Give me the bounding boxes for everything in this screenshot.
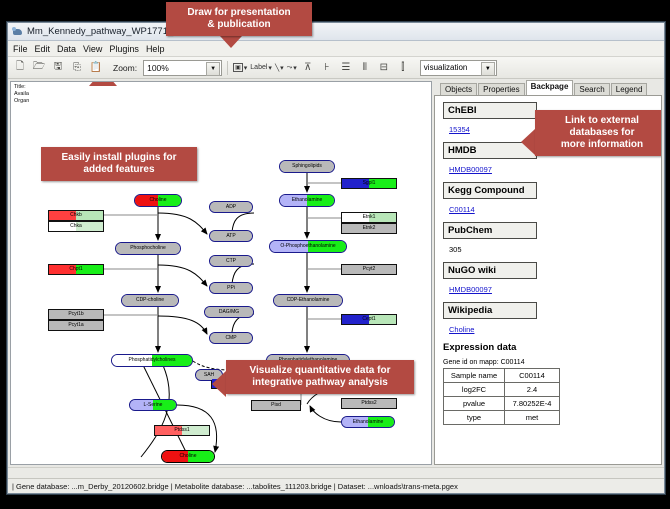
expression-value: 7.80252E-4 <box>505 397 560 411</box>
menu-bar: File Edit Data View Plugins Help <box>8 41 664 57</box>
gene-node[interactable]: Pisd <box>251 400 301 411</box>
copy-icon[interactable]: ⎘ <box>69 60 85 76</box>
backpage-panel: ChEBI15354HMDBHMDB00097Kegg CompoundC001… <box>434 96 662 465</box>
chevron-down-icon[interactable]: ▼ <box>481 62 495 76</box>
zoom-value: 100% <box>147 63 169 73</box>
node-label: ATP <box>226 234 235 239</box>
menu-item-view[interactable]: View <box>83 44 102 54</box>
node-label: Ptdss1 <box>174 428 189 433</box>
metabolite-node[interactable]: PPi <box>209 282 253 294</box>
callout-links-line3: more information <box>543 139 661 151</box>
visualization-value: visualization <box>424 63 468 72</box>
node-label: Pcyt1a <box>68 323 83 328</box>
toolbar-separator <box>227 61 228 75</box>
callout-plugins-arrow <box>89 81 117 86</box>
pathvisio-window: Mm_Kennedy_pathway_WP1771_45176.gpml Fil… <box>7 22 665 494</box>
gene-node[interactable]: Pcyt2 <box>341 264 397 275</box>
callout-plugins-line1: Easily install plugins for <box>49 152 189 164</box>
node-label: Ethanolamine <box>292 198 323 203</box>
align-left-icon[interactable]: ⊦ <box>319 60 335 76</box>
expression-data-heading: Expression data <box>443 342 653 353</box>
node-label: Choline <box>180 454 197 459</box>
stack-icon[interactable]: ⫿ <box>395 60 411 76</box>
node-label: DAG/MG <box>219 310 239 315</box>
database-section-title: PubChem <box>443 222 537 239</box>
gene-node[interactable]: Cept1 <box>341 314 397 325</box>
align-top-icon[interactable]: ⊼ <box>300 60 316 76</box>
menu-item-help[interactable]: Help <box>146 44 165 54</box>
metabolite-node[interactable]: Choline <box>161 450 215 463</box>
side-tabs: Objects Properties Backpage Search Legen… <box>434 81 662 96</box>
status-bar: | Gene database: ...m_Derby_20120602.bri… <box>8 478 664 493</box>
database-section-title: NuGO wiki <box>443 262 537 279</box>
zoom-combobox[interactable]: 100% ▼ <box>143 60 222 76</box>
callout-links-arrow <box>521 129 535 155</box>
tab-backpage[interactable]: Backpage <box>526 80 574 95</box>
metabolite-node[interactable]: Ethanolamine <box>279 194 335 207</box>
main-toolbar: 🗋 🗁 🖫 ⎘ 📋 Zoom: 100% ▼ ▣▾ Label▾ ╲▾ ⤳▾ ⊼… <box>8 57 664 79</box>
database-section-title: Wikipedia <box>443 302 537 319</box>
menu-item-data[interactable]: Data <box>57 44 76 54</box>
node-label: Sphingolipids <box>292 164 322 169</box>
gene-node[interactable]: Sgpl1 <box>341 178 397 189</box>
gene-node[interactable]: Etnk2 <box>341 223 397 234</box>
tab-properties[interactable]: Properties <box>478 83 524 95</box>
callout-draw-line2: & publication <box>174 19 304 31</box>
node-label: Ptdss2 <box>361 401 376 406</box>
metabolite-node[interactable]: CDP-Ethanolamine <box>273 294 343 307</box>
database-section-title: Kegg Compound <box>443 182 537 199</box>
node-label: L-Serine <box>144 403 163 408</box>
callout-draw: Draw for presentation & publication <box>166 2 312 36</box>
metabolite-node[interactable]: O-Phosphoethanolamine <box>269 240 347 253</box>
gene-node[interactable]: Chpt1 <box>48 264 104 275</box>
selection-handle[interactable] <box>187 462 192 463</box>
label-icon[interactable]: Label▾ <box>250 64 272 72</box>
callout-visualize-line2: integrative pathway analysis <box>234 377 406 389</box>
callout-links: Link to external databases for more info… <box>535 110 662 156</box>
expression-value: 2.4 <box>505 383 560 397</box>
paste-icon[interactable]: 📋 <box>88 60 104 76</box>
open-folder-icon[interactable]: 🗁 <box>31 60 47 76</box>
database-link[interactable]: HMDB00097 <box>449 165 492 174</box>
expression-key: log2FC <box>444 383 505 397</box>
side-panel-wrap: Objects Properties Backpage Search Legen… <box>434 81 662 465</box>
gene-node[interactable]: Pcyt1b <box>48 309 104 320</box>
metabolite-node[interactable]: Choline <box>134 194 182 207</box>
node-label: Chkb <box>70 213 82 218</box>
metabolite-node[interactable]: CMP <box>209 332 253 344</box>
node-label: CDP-choline <box>136 298 164 303</box>
horizontal-scrollbar[interactable] <box>8 467 664 478</box>
node-label: Choline <box>150 198 167 203</box>
database-section: NuGO wikiHMDB00097 <box>443 262 653 297</box>
node-label: PPi <box>227 286 235 291</box>
status-bar-text: | Gene database: ...m_Derby_20120602.bri… <box>12 482 458 491</box>
node-label: Chpt1 <box>69 267 82 272</box>
callout-visualize-line1: Visualize quantitative data for <box>234 365 406 377</box>
callout-links-line1: Link to external <box>543 115 661 127</box>
app-icon <box>12 26 23 37</box>
expression-value: met <box>505 411 560 425</box>
menu-item-edit[interactable]: Edit <box>35 44 51 54</box>
database-value: 305 <box>449 245 462 254</box>
callout-links-line2: databases for <box>543 127 661 139</box>
callout-draw-line1: Draw for presentation <box>174 7 304 19</box>
zoom-label: Zoom: <box>113 63 137 73</box>
database-link[interactable]: 15354 <box>449 125 470 134</box>
node-label: ADP <box>226 205 236 210</box>
table-row: log2FC2.4 <box>444 383 560 397</box>
line-icon[interactable]: ╲▾ <box>275 64 284 72</box>
database-link[interactable]: C00114 <box>449 205 475 214</box>
window-titlebar: Mm_Kennedy_pathway_WP1771_45176.gpml <box>8 23 664 41</box>
metabolite-node[interactable]: DAG/MG <box>204 306 254 318</box>
database-section: Kegg CompoundC00114 <box>443 182 653 217</box>
node-label: Ethanolamine <box>353 420 384 425</box>
database-section: PubChem305 <box>443 222 653 257</box>
distribute-vertical-icon[interactable]: ☰ <box>338 60 354 76</box>
same-width-icon[interactable]: ⊟ <box>376 60 392 76</box>
node-label: Pisd <box>271 403 281 408</box>
gene-node[interactable]: Chkb <box>48 210 104 221</box>
metabolite-node[interactable]: Ethanolamine <box>341 416 395 428</box>
node-label: Etnk2 <box>363 226 376 231</box>
callout-draw-arrow <box>220 36 242 48</box>
main-area: Title: Availa Organ <box>8 79 664 467</box>
metabolite-node[interactable]: CDP-choline <box>121 294 179 307</box>
database-section-title: ChEBI <box>443 102 537 119</box>
tab-legend[interactable]: Legend <box>611 83 648 95</box>
metabolite-node[interactable]: Sphingolipids <box>279 160 335 173</box>
interaction-icon[interactable]: ⤳▾ <box>287 64 297 72</box>
callout-visualize-arrow <box>212 371 226 397</box>
node-label: CTP <box>226 259 236 264</box>
save-icon[interactable]: 🖫 <box>50 60 66 76</box>
metabolite-node[interactable]: L-Serine <box>129 399 177 411</box>
callout-visualize: Visualize quantitative data for integrat… <box>226 360 414 394</box>
expression-key: type <box>444 411 505 425</box>
node-label: Phosphatidylcholines <box>129 358 176 363</box>
menu-item-file[interactable]: File <box>13 44 28 54</box>
database-link[interactable]: HMDB00097 <box>449 285 492 294</box>
node-label: Pcyt1b <box>68 312 83 317</box>
metabolite-node[interactable]: ATP <box>209 230 253 242</box>
table-row: pvalue7.80252E-4 <box>444 397 560 411</box>
metabolite-node[interactable]: Phosphocholine <box>115 242 181 255</box>
menu-item-plugins[interactable]: Plugins <box>109 44 139 54</box>
expression-table: Sample nameC00114log2FC2.4pvalue7.80252E… <box>443 368 560 425</box>
expression-key: pvalue <box>444 397 505 411</box>
node-label: Cept1 <box>362 317 375 322</box>
pathway-canvas[interactable]: Title: Availa Organ <box>10 81 432 465</box>
metabolite-node[interactable]: CTP <box>209 255 253 267</box>
gene-node[interactable]: Etnk1 <box>341 212 397 223</box>
tab-search[interactable]: Search <box>574 83 609 95</box>
node-label: CMP <box>225 336 236 341</box>
chevron-down-icon[interactable]: ▼ <box>206 62 220 76</box>
table-row: Sample nameC00114 <box>444 369 560 383</box>
metabolite-node[interactable]: Phosphatidylcholines <box>111 354 193 367</box>
gene-node[interactable]: Ptdss1 <box>154 425 210 436</box>
table-row: typemet <box>444 411 560 425</box>
visualization-combobox[interactable]: visualization ▼ <box>420 60 497 76</box>
gene-node[interactable]: Chka <box>48 221 104 232</box>
metabolite-node[interactable]: ADP <box>209 201 253 213</box>
callout-plugins: Easily install plugins for added feature… <box>41 147 197 181</box>
node-label: O-Phosphoethanolamine <box>280 244 335 249</box>
distribute-horizontal-icon[interactable]: ⦀ <box>357 60 373 76</box>
node-label: Phosphocholine <box>130 246 166 251</box>
new-file-icon[interactable]: 🗋 <box>12 60 28 76</box>
database-section: WikipediaCholine <box>443 302 653 337</box>
datanode-icon[interactable]: ▣▾ <box>233 63 247 72</box>
callout-plugins-line2: added features <box>49 164 189 176</box>
node-label: Sgpl1 <box>363 181 376 186</box>
expression-value: C00114 <box>505 369 560 383</box>
node-label: CDP-Ethanolamine <box>287 298 330 303</box>
gene-id-label: Gene id on mapp: C00114 <box>443 359 653 366</box>
node-label: Pcyt2 <box>363 267 376 272</box>
tab-objects[interactable]: Objects <box>440 83 477 95</box>
expression-key: Sample name <box>444 369 505 383</box>
gene-node[interactable]: Ptdss2 <box>341 398 397 409</box>
database-link[interactable]: Choline <box>449 325 474 334</box>
gene-node[interactable]: Pcyt1a <box>48 320 104 331</box>
node-label: Etnk1 <box>363 215 376 220</box>
node-label: Chka <box>70 224 82 229</box>
